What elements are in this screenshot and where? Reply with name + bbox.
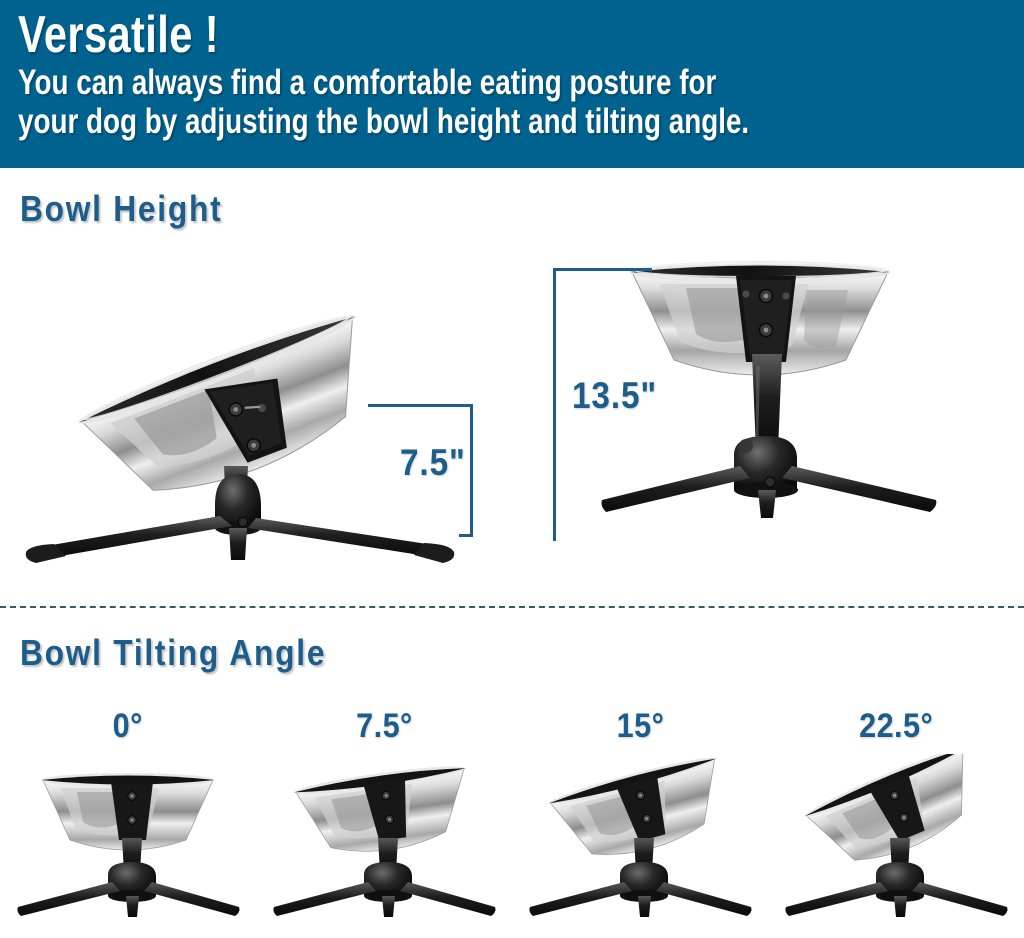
dimension-tick-top-13-5 (553, 268, 652, 271)
center-leg-high (758, 490, 776, 518)
banner-title: Versatile ! (18, 6, 808, 64)
dimension-line-13-5 (553, 268, 556, 541)
mounting-bracket-high (736, 276, 796, 362)
section-heading-bowl-height: Bowl Height (20, 188, 222, 230)
tilt-option-0: 0° (0, 706, 256, 938)
product-image-tilt-15 (525, 754, 755, 929)
infographic-page: Versatile ! You can always find a comfor… (0, 0, 1024, 938)
banner-subtitle-line-2: your dog by adjusting the bowl height an… (18, 103, 803, 141)
tripod-leg-right-low (248, 518, 434, 556)
tripod-leg-left-high (602, 466, 751, 512)
tilt-label-15: 15° (616, 706, 664, 750)
banner-subtitle-line-1: You can always find a comfortable eating… (18, 64, 803, 102)
dimension-tick-bottom-7-5 (459, 534, 473, 537)
tilt-label-0: 0° (113, 706, 143, 750)
dimension-label-7-5: 7.5" (400, 442, 466, 484)
tilt-option-15: 15° (512, 706, 768, 938)
header-banner: Versatile ! You can always find a comfor… (0, 0, 1024, 168)
center-leg-low (229, 528, 247, 560)
tripod-leg-right-high (782, 466, 936, 512)
tripod-leg-left-low (46, 516, 232, 557)
tilt-label-22-5: 22.5° (859, 706, 933, 750)
tilt-angle-row: 0° (0, 706, 1024, 938)
product-image-low-stand (10, 260, 480, 570)
bowl-height-illustration-stage (0, 236, 1024, 566)
product-image-high-stand (600, 250, 1020, 550)
tilt-option-22-5: 22.5° (768, 706, 1024, 938)
tilt-option-7-5: 7.5° (256, 706, 512, 938)
product-image-tilt-22-5 (781, 754, 1011, 929)
product-image-tilt-7-5 (269, 754, 499, 929)
dimension-tick-top-7-5 (368, 404, 473, 407)
section-divider (0, 606, 1024, 608)
section-heading-bowl-tilting-angle: Bowl Tilting Angle (20, 632, 326, 674)
tilt-label-7-5: 7.5° (356, 706, 413, 750)
dimension-label-13-5: 13.5" (572, 375, 657, 417)
product-image-tilt-0 (13, 754, 243, 929)
dimension-line-7-5 (470, 404, 473, 537)
